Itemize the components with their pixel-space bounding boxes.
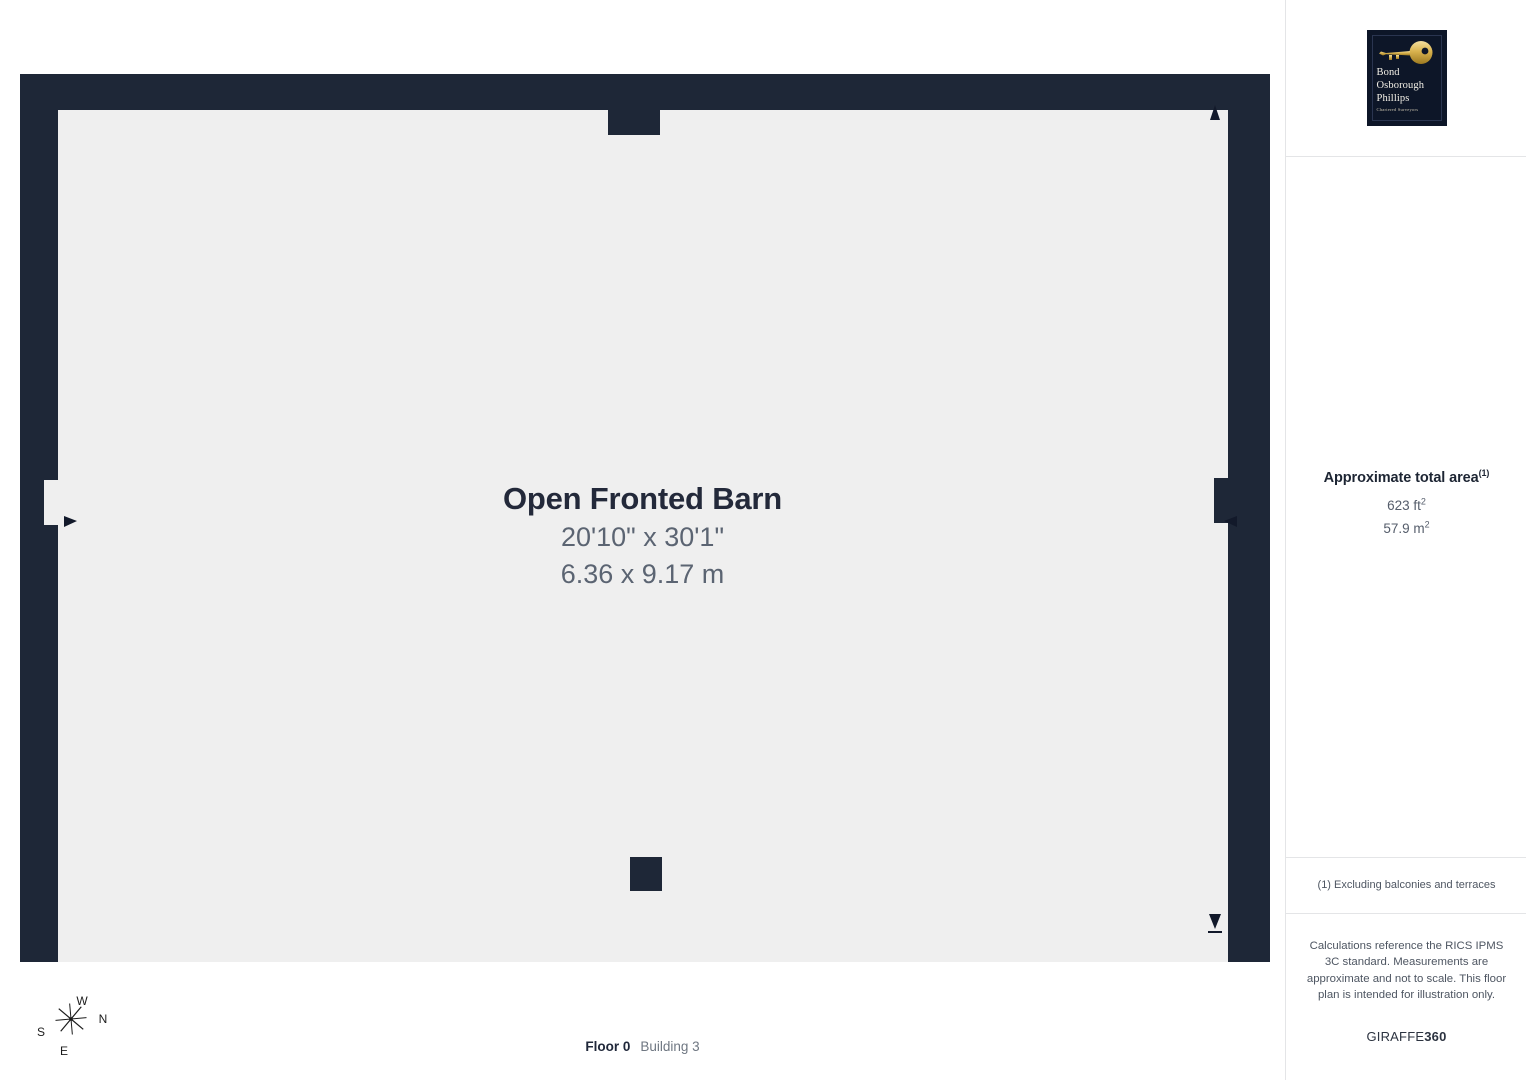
logo-line-1: Bond [1377,67,1440,80]
room-floor-fill [44,110,1228,962]
logo-company-name: Bond Osborough Phillips [1377,67,1440,105]
total-area-title: Approximate total area(1) [1324,470,1490,486]
wall-top [20,74,1270,110]
compass-label-west: W [76,994,88,1008]
total-area-title-text: Approximate total area [1324,470,1479,486]
total-area-metric-unit: 2 [1425,520,1430,530]
footnote-block: (1) Excluding balconies and terraces [1286,858,1526,913]
total-area-metric: 57.9 m2 [1383,521,1429,537]
logo-tagline: Chartered Surveyors [1377,107,1440,112]
wall-left-pier [20,480,44,525]
info-sidebar: Bond Osborough Phillips Chartered Survey… [1285,0,1526,1080]
brand-prefix: GIRAFFE [1366,1029,1424,1044]
total-area-metric-value: 57.9 m [1383,521,1424,536]
wall-top-column [608,110,660,135]
floorplan-page: Open Fronted Barn 20'10" x 30'1" 6.36 x … [0,0,1526,1080]
footer-floor-label: Floor 0 [585,1039,630,1054]
total-area-footnote-marker: (1) [1479,468,1490,478]
giraffe360-brand: GIRAFFE360 [1366,1029,1446,1044]
total-area-imperial-value: 623 ft [1387,498,1421,513]
total-area-imperial: 623 ft2 [1387,498,1426,514]
logo-line-2: Osborough [1377,80,1440,93]
wall-right-pier [1214,478,1228,523]
floorplan-footer: Floor 0Building 3 [0,1040,1285,1054]
disclaimer-text: Calculations reference the RICS IPMS 3C … [1306,938,1507,1003]
footnote-text: (1) Excluding balconies and terraces [1318,878,1496,893]
floorplan-drawing [0,0,1285,1080]
compass-label-north: N [99,1012,108,1026]
brand-suffix: 360 [1424,1029,1446,1044]
floorplan-canvas[interactable]: Open Fronted Barn 20'10" x 30'1" 6.36 x … [0,0,1285,1080]
wall-left-upper [20,110,58,480]
compass-label-south: S [37,1025,45,1039]
wall-right [1228,110,1270,962]
total-area-imperial-unit: 2 [1421,496,1426,506]
logo-line-3: Phillips [1377,93,1440,106]
agency-logo-block: Bond Osborough Phillips Chartered Survey… [1286,0,1526,156]
total-area-block: Approximate total area(1) 623 ft2 57.9 m… [1286,157,1526,857]
disclaimer-block: Calculations reference the RICS IPMS 3C … [1286,914,1526,1080]
footer-building-label: Building 3 [640,1039,699,1054]
interior-column [630,857,662,891]
key-icon [1376,40,1438,67]
wall-left-lower [20,525,58,962]
agency-logo: Bond Osborough Phillips Chartered Survey… [1368,31,1446,125]
